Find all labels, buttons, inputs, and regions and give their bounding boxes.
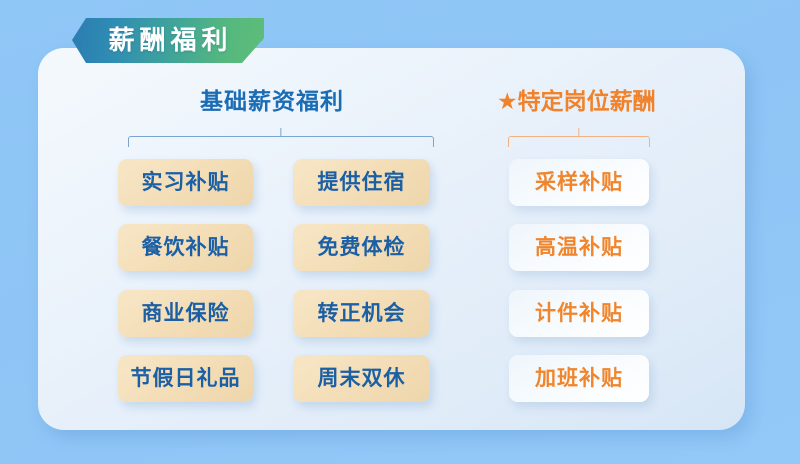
benefit-card[interactable]: 商业保险 <box>118 290 253 337</box>
benefit-card[interactable]: 周末双休 <box>293 355 430 402</box>
benefit-card[interactable]: 免费体检 <box>293 224 430 271</box>
bracket-bar <box>128 136 434 147</box>
benefit-card[interactable]: 实习补贴 <box>118 159 253 206</box>
section-title-basic: 基础薪资福利 <box>200 91 344 114</box>
special-benefit-card[interactable]: 计件补贴 <box>509 290 649 337</box>
section-title-special: ★特定岗位薪酬 <box>497 91 656 114</box>
benefit-card[interactable]: 转正机会 <box>293 290 430 337</box>
banner-salary-benefits: 薪酬福利 <box>72 18 264 63</box>
benefit-card[interactable]: 节假日礼品 <box>118 355 253 402</box>
banner-title: 薪酬福利 <box>103 28 232 54</box>
benefit-card[interactable]: 餐饮补贴 <box>118 224 253 271</box>
benefit-card[interactable]: 提供住宿 <box>293 159 430 206</box>
special-benefit-card[interactable]: 高温补贴 <box>509 224 649 271</box>
infographic-stage: 薪酬福利 基础薪资福利 ★特定岗位薪酬 实习补贴 餐饮补贴 商业保险 节假日礼品… <box>0 0 800 464</box>
special-benefit-card[interactable]: 加班补贴 <box>509 355 649 402</box>
special-benefit-card[interactable]: 采样补贴 <box>509 159 649 206</box>
bracket-bar <box>508 136 650 147</box>
